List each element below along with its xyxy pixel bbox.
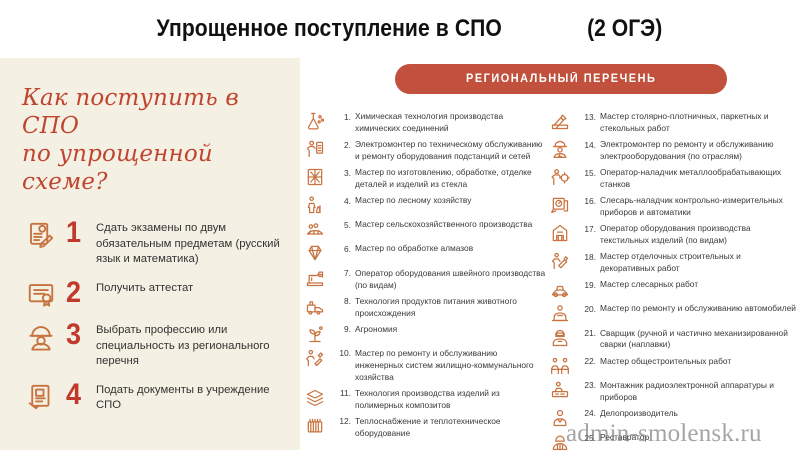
profession-number: 17. bbox=[580, 222, 600, 234]
profession-item: 10.Мастер по ремонту и обслуживанию инже… bbox=[305, 347, 550, 384]
profession-number: 14. bbox=[580, 138, 600, 150]
profession-label: Мастер слесарных работ bbox=[600, 278, 800, 291]
left-panel-heading: Как поступить в СПО по упрощенной схеме? bbox=[22, 84, 284, 196]
profession-number: 1. bbox=[335, 110, 355, 122]
profession-number: 5. bbox=[335, 218, 355, 230]
step-label: Подать документы в учреждение СПО bbox=[96, 380, 284, 414]
profession-number: 12. bbox=[335, 415, 355, 427]
profession-item: 2.Электромонтер по техническому обслужив… bbox=[305, 138, 550, 163]
profession-label: Мастер столярно-плотничных, паркетных и … bbox=[600, 110, 800, 135]
profession-item: 18.Мастер отделочных строительных и деко… bbox=[550, 250, 800, 275]
farm-field-icon bbox=[305, 218, 335, 239]
profession-label: Мастер общестроительных работ bbox=[600, 355, 800, 368]
header: Упрощенное поступление в СПО (2 ОГЭ) bbox=[0, 0, 800, 58]
measuring-instruments-icon bbox=[550, 194, 580, 215]
profession-item: 3.Мастер по изготовлению, обработке, отд… bbox=[305, 166, 550, 191]
profession-item: 22.Мастер общестроительных работ bbox=[550, 355, 800, 376]
step-label: Выбрать профессию или специальность из р… bbox=[96, 320, 284, 370]
electrician-icon bbox=[305, 138, 335, 159]
profession-label: Технология производства изделий из полим… bbox=[355, 387, 550, 412]
electronics-assembly-icon bbox=[550, 379, 580, 400]
agronomy-icon bbox=[305, 323, 335, 344]
profession-label: Мастер по ремонту и обслуживанию автомоб… bbox=[600, 302, 800, 315]
profession-number: 10. bbox=[335, 347, 355, 359]
car-mechanic-icon bbox=[550, 302, 580, 323]
profession-label: Мастер отделочных строительных и декорат… bbox=[600, 250, 800, 275]
profession-number: 7. bbox=[335, 267, 355, 279]
radiator-heating-icon bbox=[305, 415, 335, 436]
banner-label: РЕГИОНАЛЬНЫЙ ПЕРЕЧЕНЬ bbox=[466, 73, 656, 85]
profession-label: Мастер по изготовлению, обработке, отдел… bbox=[355, 166, 550, 191]
profession-number: 23. bbox=[580, 379, 600, 391]
profession-item: 9.Агрономия bbox=[305, 323, 550, 344]
profession-item: 20.Мастер по ремонту и обслуживанию авто… bbox=[550, 302, 800, 323]
profession-label: Химическая технология производства химич… bbox=[355, 110, 550, 135]
carpentry-tools-icon bbox=[550, 110, 580, 131]
profession-number: 18. bbox=[580, 250, 600, 262]
profession-item: 11.Технология производства изделий из по… bbox=[305, 387, 550, 412]
profession-label: Слесарь-наладчик контрольно-измерительны… bbox=[600, 194, 800, 219]
welder-icon bbox=[550, 327, 580, 348]
profession-number: 25. bbox=[580, 431, 600, 443]
profession-label: Реставратор bbox=[600, 431, 800, 444]
step-number: 4 bbox=[66, 380, 93, 410]
office-clerk-icon bbox=[550, 407, 580, 428]
sewing-machine-icon bbox=[305, 267, 335, 288]
profession-item: 15.Оператор-наладчик металлообрабатывающ… bbox=[550, 166, 800, 191]
profession-item: 16.Слесарь-наладчик контрольно-измерител… bbox=[550, 194, 800, 219]
profession-label: Оператор-наладчик металлообрабатывающих … bbox=[600, 166, 800, 191]
profession-item: 6.Мастер по обработке алмазов bbox=[305, 242, 550, 263]
professions-column-left: 1.Химическая технология производства хим… bbox=[300, 110, 550, 450]
profession-label: Сварщик (ручной и частично механизирован… bbox=[600, 327, 800, 352]
left-panel-heading-line1: Как поступить в СПО bbox=[22, 85, 239, 139]
profession-number: 8. bbox=[335, 295, 355, 307]
profession-label: Мастер по обработке алмазов bbox=[355, 242, 550, 255]
exam-paper-pencil-icon bbox=[26, 218, 66, 250]
profession-item: 14.Электромонтер по ремонту и обслуживан… bbox=[550, 138, 800, 163]
step-item: 4Подать документы в учреждение СПО bbox=[26, 380, 284, 414]
forestry-worker-icon bbox=[305, 194, 335, 215]
profession-item: 12.Теплоснабжение и теплотехническое обо… bbox=[305, 415, 550, 440]
profession-item: 13.Мастер столярно-плотничных, паркетных… bbox=[550, 110, 800, 135]
profession-label: Технология продуктов питания животного п… bbox=[355, 295, 550, 320]
right-panel: РЕГИОНАЛЬНЫЙ ПЕРЕЧЕНЬ 1.Химическая техно… bbox=[300, 58, 800, 450]
profession-number: 20. bbox=[580, 302, 600, 314]
profession-label: Мастер сельскохозяйственного производств… bbox=[355, 218, 550, 231]
profession-number: 13. bbox=[580, 110, 600, 122]
profession-item: 21.Сварщик (ручной и частично механизиро… bbox=[550, 327, 800, 352]
profession-item: 5.Мастер сельскохозяйственного производс… bbox=[305, 218, 550, 239]
profession-number: 19. bbox=[580, 278, 600, 290]
profession-number: 24. bbox=[580, 407, 600, 419]
profession-number: 2. bbox=[335, 138, 355, 150]
profession-label: Оператор оборудования производства текст… bbox=[600, 222, 800, 247]
profession-number: 11. bbox=[335, 387, 355, 399]
step-label: Получить аттестат bbox=[96, 278, 284, 297]
step-item: 1Сдать экзамены по двум обязательным пре… bbox=[26, 218, 284, 268]
step-number: 3 bbox=[66, 320, 93, 350]
profession-item: 8.Технология продуктов питания животного… bbox=[305, 295, 550, 320]
profession-label: Делопроизводитель bbox=[600, 407, 800, 420]
plumbing-repair-icon bbox=[305, 347, 335, 368]
profession-item: 25.Реставратор bbox=[550, 431, 800, 450]
page-title: Упрощенное поступление в СПО bbox=[157, 15, 502, 43]
profession-number: 9. bbox=[335, 323, 355, 335]
profession-label: Агрономия bbox=[355, 323, 550, 336]
left-panel-heading-line2: по упрощенной схеме? bbox=[22, 140, 284, 196]
decorator-icon bbox=[550, 250, 580, 271]
profession-label: Мастер по ремонту и обслуживанию инженер… bbox=[355, 347, 550, 384]
certificate-icon bbox=[26, 278, 66, 310]
locksmith-icon bbox=[550, 278, 580, 299]
profession-item: 19.Мастер слесарных работ bbox=[550, 278, 800, 299]
profession-item: 23.Монтажник радиоэлектронной аппаратуры… bbox=[550, 379, 800, 404]
glass-window-icon bbox=[305, 166, 335, 187]
infographic-root: Упрощенное поступление в СПО (2 ОГЭ) Как… bbox=[0, 0, 800, 450]
profession-item: 7.Оператор оборудования швейного произво… bbox=[305, 267, 550, 292]
professions-columns: 1.Химическая технология производства хим… bbox=[300, 110, 800, 450]
professions-column-right: 13.Мастер столярно-плотничных, паркетных… bbox=[550, 110, 800, 450]
electrical-worker-icon bbox=[550, 138, 580, 159]
profession-label: Оператор оборудования швейного производс… bbox=[355, 267, 550, 292]
page-subtitle: (2 ОГЭ) bbox=[587, 15, 662, 43]
profession-item: 24.Делопроизводитель bbox=[550, 407, 800, 428]
left-panel: Как поступить в СПО по упрощенной схеме?… bbox=[0, 58, 300, 450]
profession-number: 21. bbox=[580, 327, 600, 339]
profession-number: 15. bbox=[580, 166, 600, 178]
builders-icon bbox=[550, 355, 580, 376]
diamond-icon bbox=[305, 242, 335, 263]
profession-number: 6. bbox=[335, 242, 355, 254]
layers-composite-icon bbox=[305, 387, 335, 408]
profession-item: 4.Мастер по лесному хозяйству bbox=[305, 194, 550, 215]
profession-label: Электромонтер по техническому обслуживан… bbox=[355, 138, 550, 163]
step-number: 2 bbox=[66, 278, 93, 308]
machine-operator-icon bbox=[550, 166, 580, 187]
profession-number: 22. bbox=[580, 355, 600, 367]
profession-label: Теплоснабжение и теплотехническое оборуд… bbox=[355, 415, 550, 440]
restorer-icon bbox=[550, 431, 580, 450]
profession-item: 1.Химическая технология производства хим… bbox=[305, 110, 550, 135]
worker-helmet-icon bbox=[26, 320, 66, 352]
steps-list: 1Сдать экзамены по двум обязательным пре… bbox=[26, 218, 284, 414]
step-item: 3Выбрать профессию или специальность из … bbox=[26, 320, 284, 370]
profession-label: Мастер по лесному хозяйству bbox=[355, 194, 550, 207]
profession-number: 3. bbox=[335, 166, 355, 178]
step-number: 1 bbox=[66, 218, 93, 248]
textile-loom-icon bbox=[550, 222, 580, 243]
profession-label: Монтажник радиоэлектронной аппаратуры и … bbox=[600, 379, 800, 404]
food-production-icon bbox=[305, 295, 335, 316]
chemistry-flask-icon bbox=[305, 110, 335, 131]
step-label: Сдать экзамены по двум обязательным пред… bbox=[96, 218, 284, 268]
profession-number: 4. bbox=[335, 194, 355, 206]
profession-number: 16. bbox=[580, 194, 600, 206]
step-item: 2Получить аттестат bbox=[26, 278, 284, 310]
documents-folder-icon bbox=[26, 380, 66, 412]
profession-item: 17.Оператор оборудования производства те… bbox=[550, 222, 800, 247]
regional-list-banner: РЕГИОНАЛЬНЫЙ ПЕРЕЧЕНЬ bbox=[395, 64, 727, 94]
profession-label: Электромонтер по ремонту и обслуживанию … bbox=[600, 138, 800, 163]
